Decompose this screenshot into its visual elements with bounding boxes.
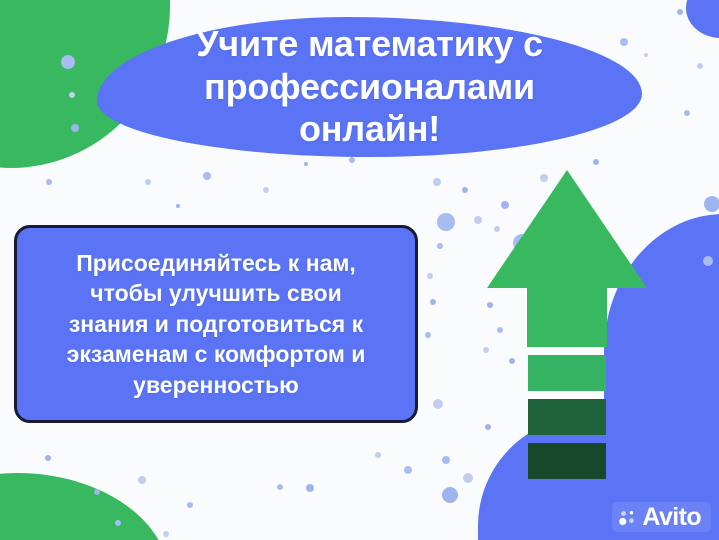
- decor-dot: [433, 178, 441, 186]
- headline-bubble: Учите математику с профессионалами онлай…: [97, 17, 642, 157]
- decor-dot: [375, 452, 381, 458]
- decor-dot: [593, 159, 599, 165]
- decor-dot: [115, 520, 121, 526]
- decor-dot: [187, 502, 193, 508]
- decor-dot: [176, 204, 180, 208]
- blue-blob-top-right: [686, 0, 719, 38]
- decor-dot: [349, 157, 355, 163]
- decor-dot: [138, 476, 146, 484]
- decor-dot: [684, 110, 690, 116]
- decor-dot: [437, 243, 443, 249]
- decor-dot: [704, 196, 719, 212]
- decor-dot: [203, 172, 211, 180]
- decor-dot: [163, 531, 169, 537]
- decor-dot: [45, 455, 51, 461]
- decor-dot: [463, 473, 473, 483]
- decor-dot: [277, 484, 283, 490]
- arrow-up-icon: [487, 170, 647, 288]
- growth-bar-3: [528, 443, 606, 479]
- decor-dot: [462, 187, 468, 193]
- decor-dot: [263, 187, 269, 193]
- decor-dot: [697, 63, 703, 69]
- body-line-2: чтобы улучшить свои: [90, 280, 341, 306]
- body-line-5: уверенностью: [133, 372, 299, 398]
- body-line-1: Присоединяйтесь к нам,: [76, 250, 356, 276]
- body-line-3: знания и подготовиться к: [69, 311, 363, 337]
- poster-canvas: Учите математику с профессионалами онлай…: [0, 0, 719, 540]
- headline-line-1: Учите математику с: [196, 23, 543, 64]
- decor-dot: [703, 256, 713, 266]
- decor-dot: [430, 299, 436, 305]
- headline-line-2: профессионалами онлайн!: [204, 66, 535, 149]
- decor-dot: [442, 456, 450, 464]
- body-message-card: Присоединяйтесь к нам, чтобы улучшить св…: [14, 225, 418, 423]
- decor-dot: [620, 38, 628, 46]
- decor-dot: [145, 179, 151, 185]
- decor-dot: [427, 273, 433, 279]
- headline-text: Учите математику с профессионалами онлай…: [130, 23, 610, 150]
- decor-dot: [677, 9, 683, 15]
- arrow-shaft: [527, 287, 607, 347]
- decor-dot: [442, 487, 458, 503]
- decor-dot: [71, 124, 79, 132]
- decor-dot: [61, 55, 75, 69]
- decor-dot: [304, 162, 308, 166]
- decor-dot: [94, 489, 100, 495]
- decor-dot: [306, 484, 314, 492]
- growth-arrow-graphic: [487, 170, 647, 455]
- decor-dot: [425, 332, 431, 338]
- body-message-text: Присоединяйтесь к нам, чтобы улучшить св…: [30, 248, 402, 401]
- decor-dot: [404, 466, 412, 474]
- avito-dots-logo-icon: [618, 508, 637, 527]
- decor-dot: [69, 92, 75, 98]
- body-line-4: экзаменам с комфортом и: [67, 341, 366, 367]
- decor-dot: [644, 53, 648, 57]
- avito-watermark: Avito: [612, 502, 711, 532]
- avito-wordmark: Avito: [642, 505, 701, 530]
- growth-bar-1: [528, 355, 606, 391]
- decor-dot: [474, 216, 482, 224]
- decor-dot: [46, 179, 52, 185]
- decor-dot: [433, 399, 443, 409]
- decor-dot: [437, 213, 455, 231]
- growth-bar-2: [528, 399, 606, 435]
